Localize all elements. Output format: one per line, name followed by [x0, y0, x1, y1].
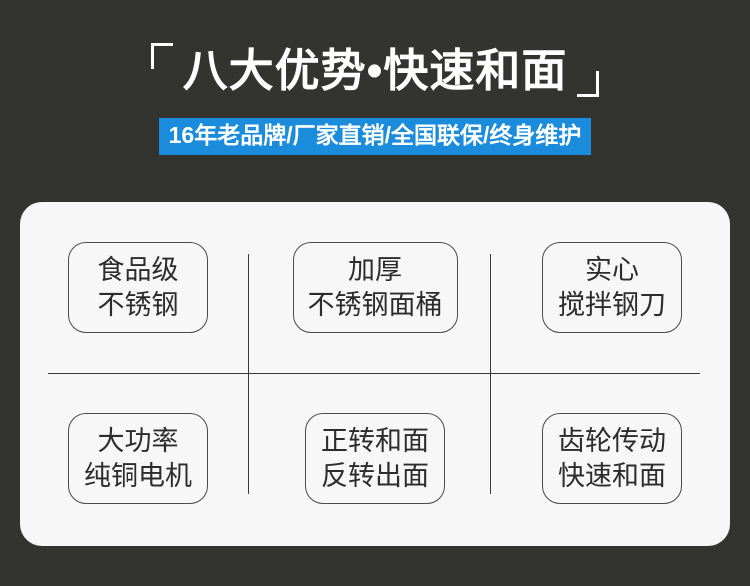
feature-box-food-grade-stainless-steel: 食品级 不锈钢: [68, 242, 208, 333]
feature-cell: 齿轮传动 快速和面: [494, 373, 730, 544]
subtitle-banner: 16年老品牌/厂家直销/全国联保/终身维护: [159, 118, 592, 155]
page-title: 八大优势•快速和面: [177, 48, 574, 93]
feature-line-2: 快速和面: [557, 459, 667, 494]
feature-line-1: 实心: [557, 253, 667, 288]
header-section: 八大优势•快速和面 16年老品牌/厂家直销/全国联保/终身维护: [0, 0, 750, 190]
feature-cell: 加厚 不锈钢面桶: [257, 202, 493, 373]
title-row: 八大优势•快速和面: [0, 30, 750, 110]
feature-box-gear-drive-fast-kneading: 齿轮传动 快速和面: [542, 413, 682, 504]
feature-line-1: 食品级: [83, 253, 193, 288]
feature-cell: 正转和面 反转出面: [257, 373, 493, 544]
quote-open-bracket-icon: [147, 39, 177, 101]
feature-line-2: 反转出面: [320, 459, 430, 494]
feature-box-thickened-stainless-steel-bucket: 加厚 不锈钢面桶: [293, 242, 458, 333]
quote-close-bracket-icon: [573, 39, 603, 101]
feature-line-2: 纯铜电机: [83, 459, 193, 494]
feature-line-1: 大功率: [83, 424, 193, 459]
feature-line-2: 不锈钢: [83, 288, 193, 323]
feature-cell: 大功率 纯铜电机: [20, 373, 256, 544]
feature-line-1: 正转和面: [320, 424, 430, 459]
feature-cell: 食品级 不锈钢: [20, 202, 256, 373]
features-panel: 食品级 不锈钢 加厚 不锈钢面桶 实心 搅拌钢刀 大功率 纯铜电机 正转: [20, 202, 730, 546]
feature-line-2: 搅拌钢刀: [557, 288, 667, 323]
feature-cell: 实心 搅拌钢刀: [494, 202, 730, 373]
features-grid: 食品级 不锈钢 加厚 不锈钢面桶 实心 搅拌钢刀 大功率 纯铜电机 正转: [20, 202, 730, 546]
feature-line-1: 加厚: [308, 253, 443, 288]
feature-line-1: 齿轮传动: [557, 424, 667, 459]
feature-box-high-power-copper-motor: 大功率 纯铜电机: [68, 413, 208, 504]
feature-box-forward-reverse-rotation: 正转和面 反转出面: [305, 413, 445, 504]
subtitle-row: 16年老品牌/厂家直销/全国联保/终身维护: [0, 118, 750, 155]
feature-box-solid-mixing-blade: 实心 搅拌钢刀: [542, 242, 682, 333]
feature-line-2: 不锈钢面桶: [308, 288, 443, 323]
